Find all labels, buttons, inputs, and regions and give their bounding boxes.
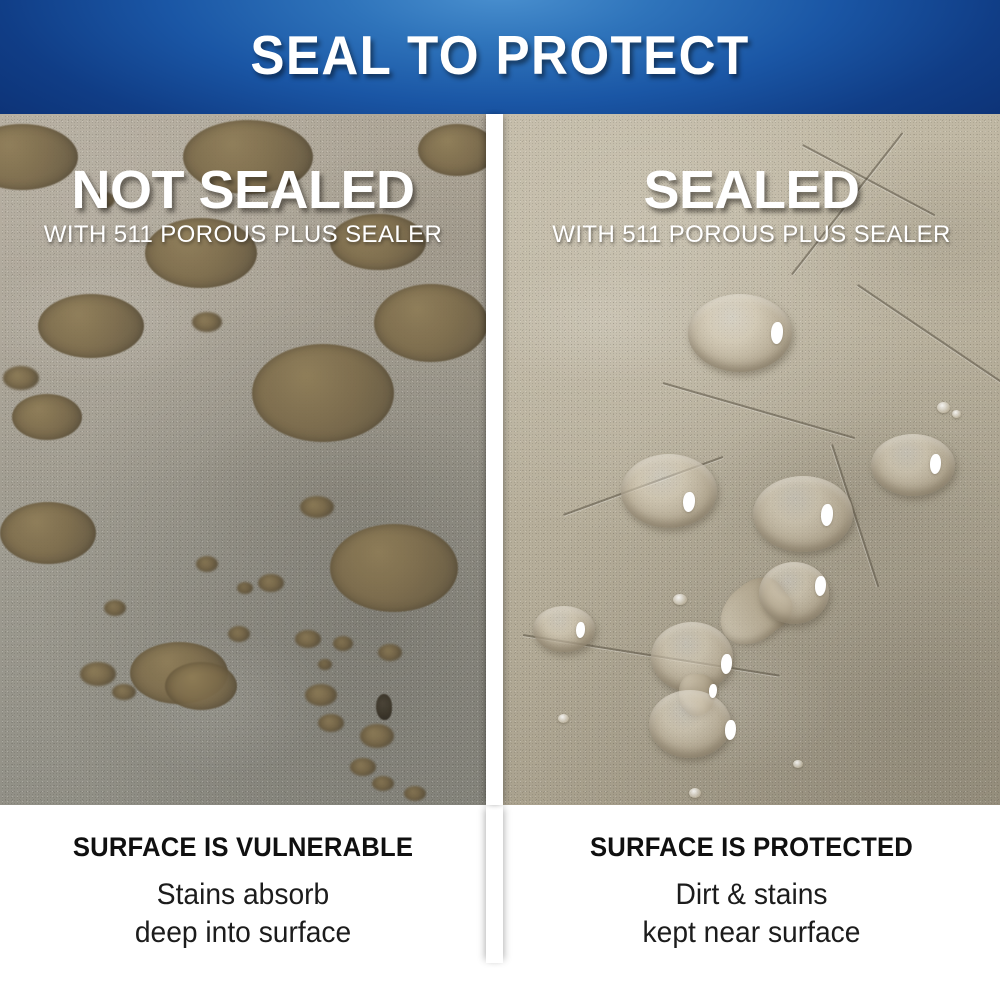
- stain-spot: [404, 786, 426, 801]
- micro-droplet: [952, 410, 961, 418]
- stain-spot: [318, 659, 332, 670]
- stain-spot: [252, 344, 394, 442]
- banner: SEAL TO PROTECT: [0, 0, 1000, 114]
- stain-spot: [333, 636, 353, 651]
- caption-heading-left: SURFACE IS VULNERABLE: [12, 832, 474, 862]
- caption-not-sealed: SURFACE IS VULNERABLE Stains absorb deep…: [0, 805, 486, 952]
- stain-spot: [372, 776, 394, 791]
- caption-body-right: Dirt & stains kept near surface: [518, 876, 985, 952]
- micro-droplet: [673, 594, 687, 605]
- stain-spot: [378, 644, 402, 661]
- dark-stain-spot: [376, 694, 392, 720]
- overlay-title-left: NOT SEALED: [0, 162, 486, 218]
- water-bead: [533, 606, 595, 652]
- stain-spot: [3, 366, 39, 390]
- stain-spot: [104, 600, 126, 616]
- overlay-subtitle-right: WITH 511 POROUS PLUS SEALER: [503, 221, 1000, 249]
- micro-droplet: [558, 714, 569, 723]
- micro-droplet: [793, 760, 803, 768]
- caption-heading-right: SURFACE IS PROTECTED: [515, 832, 987, 862]
- overlay-label-sealed: SEALED WITH 511 POROUS PLUS SEALER: [503, 162, 1000, 249]
- caption-line-2-left: deep into surface: [15, 914, 472, 952]
- stain-spot: [360, 724, 394, 748]
- stain-spot: [80, 662, 116, 686]
- water-bead: [753, 476, 853, 552]
- caption-line-1-left: Stains absorb: [15, 876, 472, 914]
- micro-droplet: [937, 402, 950, 413]
- stain-spot: [258, 574, 284, 592]
- stain-spot: [112, 684, 136, 700]
- caption-sealed: SURFACE IS PROTECTED Dirt & stains kept …: [503, 805, 1000, 952]
- stain-spot: [374, 284, 486, 362]
- caption-divider: [486, 805, 503, 963]
- water-bead: [621, 454, 717, 528]
- stain-spot: [228, 626, 250, 642]
- water-bead: [871, 434, 955, 496]
- stain-spot: [318, 714, 344, 732]
- seal-to-protect-infographic: SEAL TO PROTECT: [0, 0, 1000, 1000]
- stain-spot: [237, 582, 253, 594]
- stain-spot: [38, 294, 144, 358]
- stain-spot: [330, 524, 458, 612]
- caption-body-left: Stains absorb deep into surface: [15, 876, 472, 952]
- stain-spot: [300, 496, 334, 518]
- overlay-label-not-sealed: NOT SEALED WITH 511 POROUS PLUS SEALER: [0, 162, 486, 249]
- stain-spot: [192, 312, 222, 332]
- overlay-title-right: SEALED: [503, 162, 1000, 218]
- caption-line-2-right: kept near surface: [518, 914, 985, 952]
- stain-spot: [196, 556, 218, 572]
- caption-line-1-right: Dirt & stains: [518, 876, 985, 914]
- stain-spot: [305, 684, 337, 706]
- micro-droplet: [689, 788, 701, 798]
- photo-divider: [486, 114, 503, 805]
- captions-area: SURFACE IS VULNERABLE Stains absorb deep…: [0, 805, 1000, 1000]
- banner-title: SEAL TO PROTECT: [35, 23, 965, 87]
- overlay-subtitle-left: WITH 511 POROUS PLUS SEALER: [0, 221, 486, 249]
- stain-spot: [350, 758, 376, 776]
- stain-spot: [295, 630, 321, 648]
- water-bead: [649, 690, 731, 758]
- stain-spot: [0, 502, 96, 564]
- stain-spot: [12, 394, 82, 440]
- stain-spot: [165, 662, 237, 710]
